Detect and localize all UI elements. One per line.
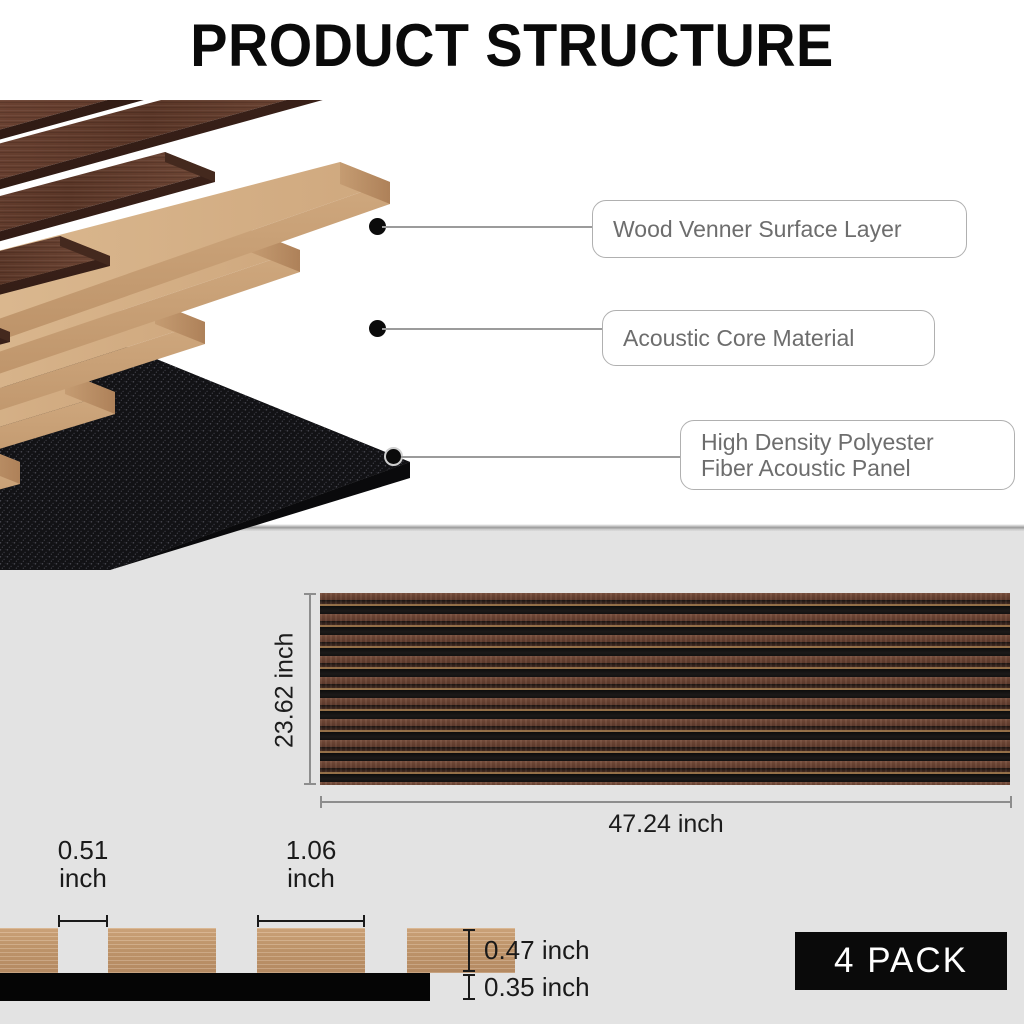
- callout-acoustic-core[interactable]: Acoustic Core Material: [602, 310, 935, 366]
- leader-line-acoustic-core: [382, 328, 604, 330]
- cross-section-slat: [108, 928, 216, 973]
- panel-gap: [320, 732, 1010, 740]
- slat-panel-front-view: [320, 593, 1010, 785]
- pack-count-badge: 4 PACK: [795, 932, 1007, 990]
- panel-gap: [320, 753, 1010, 761]
- panel-height-label: 23.62 inch: [267, 600, 303, 780]
- gap-unit: inch: [59, 863, 107, 893]
- panel-gap: [320, 711, 1010, 719]
- panel-gap: [320, 648, 1010, 656]
- gap-value: 0.51: [58, 835, 109, 865]
- panel-slat: [320, 635, 1010, 648]
- panel-gap: [320, 606, 1010, 614]
- panel-gap: [320, 669, 1010, 677]
- base-thickness-dimension-line: [468, 974, 470, 1000]
- slat-height-label: 0.47 inch: [484, 935, 590, 966]
- panel-slat: [320, 761, 1010, 774]
- panel-width-label: 47.24 inch: [320, 810, 1012, 839]
- leader-line-wood-veneer: [382, 226, 594, 228]
- panel-gap: [320, 774, 1010, 782]
- slat-value: 1.06: [286, 835, 337, 865]
- panel-slat: [320, 698, 1010, 711]
- panel-slat: [320, 740, 1010, 753]
- page-title: PRODUCT STRUCTURE: [36, 14, 988, 77]
- panel-slat: [320, 593, 1010, 606]
- base-thickness-label: 0.35 inch: [484, 972, 590, 1003]
- callout-wood-veneer[interactable]: Wood Venner Surface Layer: [592, 200, 967, 258]
- panel-width-dimension-line: [320, 801, 1012, 803]
- callout-polyester-panel[interactable]: High Density Polyester Fiber Acoustic Pa…: [680, 420, 1015, 490]
- panel-slat: [320, 614, 1010, 627]
- infographic-canvas: PRODUCT STRUCTURE: [0, 0, 1024, 1024]
- panel-slat: [320, 677, 1010, 690]
- gap-dimension-line: [58, 920, 108, 922]
- panel-slat: [320, 656, 1010, 669]
- slat-height-dimension-line: [468, 929, 470, 972]
- slat-width-dimension-label: 1.06 inch: [241, 836, 381, 892]
- panel-slat: [320, 782, 1010, 785]
- cross-section-base-bar: [0, 973, 430, 1001]
- gap-dimension-label: 0.51 inch: [13, 836, 153, 892]
- panel-gap: [320, 627, 1010, 635]
- leader-line-polyester-panel: [401, 456, 682, 458]
- panel-gap: [320, 690, 1010, 698]
- panel-slat: [320, 719, 1010, 732]
- slat-unit: inch: [287, 863, 335, 893]
- cross-section-diagram: 0.51 inch 1.06 inch 0.47 inch 0.35 inch: [0, 928, 440, 1018]
- cross-section-slat: [0, 928, 58, 973]
- panel-height-dimension-line: [309, 593, 311, 785]
- slat-width-dimension-line: [257, 920, 365, 922]
- cross-section-slat: [257, 928, 365, 973]
